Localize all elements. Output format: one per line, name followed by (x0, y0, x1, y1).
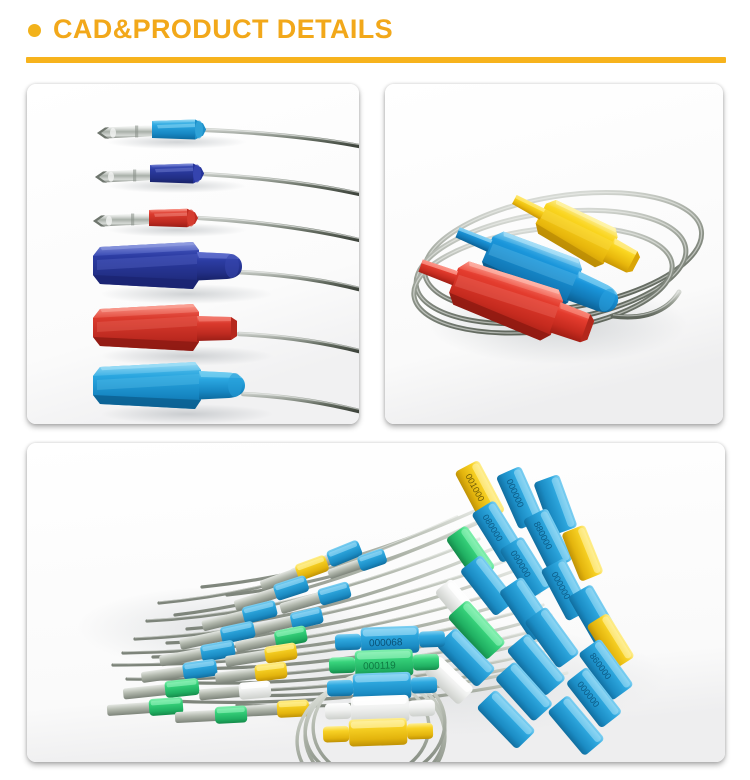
page-title-text: CAD&PRODUCT DETAILS (53, 16, 393, 43)
seal-serial: 000068 (369, 637, 403, 649)
product-photo-panel-bulk: 001000 000000 080000 (27, 443, 725, 762)
title-divider (26, 57, 726, 63)
product-photo-panel-coiled (385, 84, 723, 424)
product-details-page: CAD&PRODUCT DETAILS (0, 0, 750, 780)
dot-bullet-icon (28, 24, 41, 37)
page-title: CAD&PRODUCT DETAILS (28, 16, 393, 43)
product-photo-panel-lineup (27, 84, 359, 424)
product-photo-bulk: 001000 000000 080000 (27, 443, 725, 762)
seal-serial: 000119 (363, 660, 396, 672)
product-photo-lineup (27, 84, 359, 424)
product-photo-coiled (385, 84, 723, 424)
section-header: CAD&PRODUCT DETAILS (0, 0, 750, 72)
